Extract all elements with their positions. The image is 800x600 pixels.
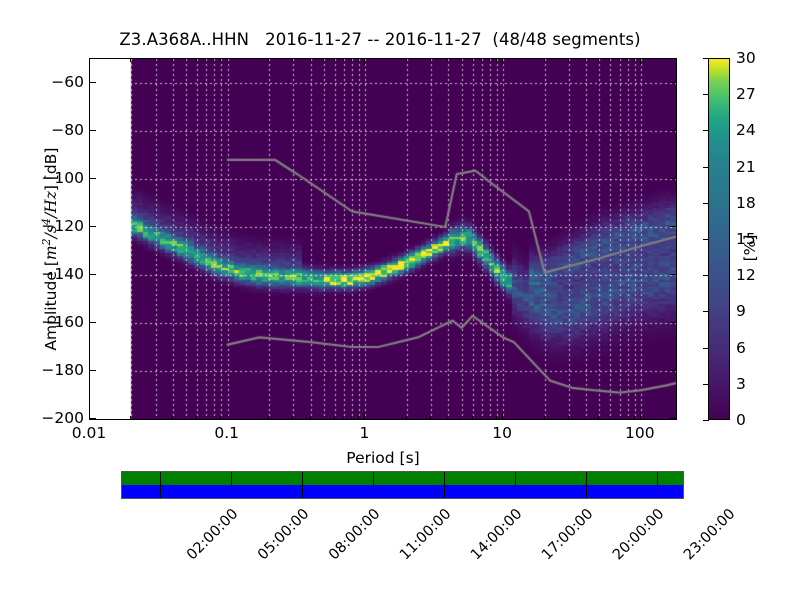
coverage-tick-label: 17:00:00 xyxy=(539,506,596,563)
x-tick-label: 100 xyxy=(625,424,655,442)
coverage-tick-mark xyxy=(444,472,445,498)
coverage-psd-band xyxy=(122,485,683,498)
coverage-tick-label: 14:00:00 xyxy=(468,506,525,563)
coverage-tick-mark xyxy=(586,472,587,498)
coverage-tick-label: 02:00:00 xyxy=(184,506,241,563)
x-tick-label: 0.01 xyxy=(72,424,107,442)
colorbar-tick-label: 0 xyxy=(736,411,746,429)
coverage-tick-mark xyxy=(515,472,516,498)
coverage-tick-label: 23:00:00 xyxy=(681,506,738,563)
colorbar-tick-mark xyxy=(703,420,709,421)
x-tick-label: 10 xyxy=(492,424,512,442)
colorbar xyxy=(708,58,730,420)
time-coverage-bar[interactable] xyxy=(121,471,684,499)
noise-model-curves xyxy=(90,59,676,419)
coverage-tick-mark xyxy=(657,472,658,498)
coverage-tick-mark xyxy=(373,472,374,498)
coverage-tick-label: 05:00:00 xyxy=(255,506,312,563)
y-axis-title: Amplitude [m2/s4/Hz] [dB] xyxy=(40,39,60,459)
colorbar-tick-label: 30 xyxy=(736,49,756,67)
figure-title: Z3.A368A..HHN 2016-11-27 -- 2016-11-27 (… xyxy=(0,30,760,49)
coverage-tick-label: 08:00:00 xyxy=(326,506,383,563)
x-tick-label: 1 xyxy=(359,424,369,442)
ppsd-plot-area[interactable] xyxy=(89,58,677,420)
colorbar-title: [%] xyxy=(741,98,759,398)
coverage-tick-label: 20:00:00 xyxy=(610,506,667,563)
x-axis-title: Period [s] xyxy=(89,449,677,467)
coverage-tick-mark xyxy=(231,472,232,498)
x-tick-label: 0.1 xyxy=(214,424,239,442)
coverage-tick-label: 11:00:00 xyxy=(397,506,454,563)
ppsd-figure: Z3.A368A..HHN 2016-11-27 -- 2016-11-27 (… xyxy=(0,0,800,600)
coverage-data-band xyxy=(122,472,683,485)
coverage-tick-mark xyxy=(160,472,161,498)
coverage-tick-mark xyxy=(302,472,303,498)
